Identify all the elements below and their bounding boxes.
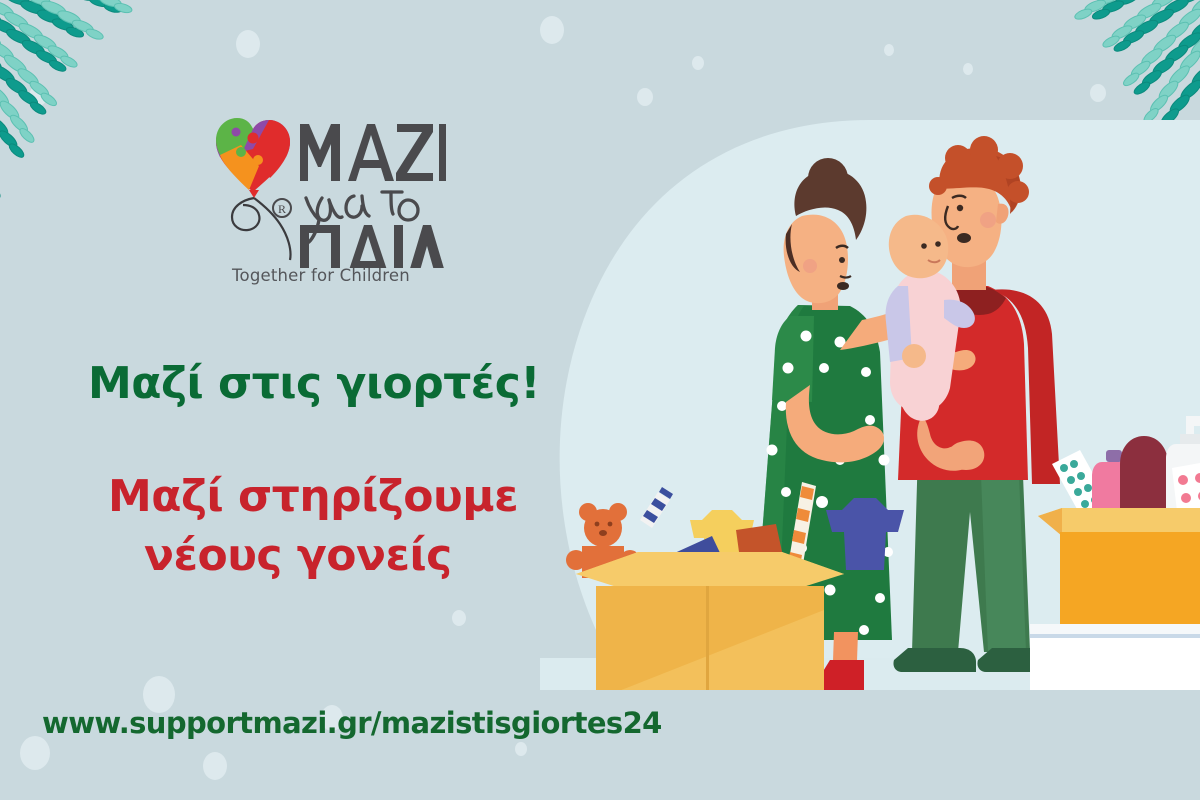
logo-tagline: Together for Children [196,266,446,285]
father-hair-curl-2 [945,145,971,171]
father-hair-curl-1 [929,177,947,195]
headline-red-line2: νέους γονείς [108,527,518,586]
headline-green: Μαζί στις γιορτές! [88,358,540,409]
registered-trademark-icon: R [273,199,291,217]
father-hair-curl-3 [970,136,998,164]
baby-eye-left [921,243,927,249]
campaign-url[interactable]: www.supportmazi.gr/mazistisgiortes24 [42,706,662,740]
balloon-string-icon [232,198,259,230]
holiday-campaign-poster: R Together for Children Μαζί στις γιορτέ… [0,0,1200,800]
organization-logo: R Together for Children [196,108,446,298]
father-cheek [980,212,996,228]
father-eye [957,205,963,211]
headline-red-line1: Μαζί στηρίζουμε [108,471,518,522]
headline-red: Μαζί στηρίζουμε νέους γονείς [108,468,518,585]
snow-dot [203,752,227,780]
snow-dot [515,742,527,756]
pedestal-top [1030,624,1200,634]
mother-cheek [803,259,817,273]
mother-eye [839,257,845,263]
dark-red-bottle-icon [1120,436,1168,516]
snow-dot [452,610,466,626]
father-hair-curl-5 [1007,181,1029,203]
father-hair-curl-4 [997,153,1023,179]
father-pants-shade [980,450,1026,652]
snow-dot [20,736,50,770]
baby-hand [902,344,926,368]
logo-mark: R [196,108,446,268]
father-shoe-left [893,648,976,672]
care-box-front [1060,532,1200,624]
snow-dot [637,88,653,106]
snow-dot [540,16,564,44]
svg-text:R: R [278,202,286,216]
care-box-flaps [1038,508,1200,532]
toy-box-seam [706,586,709,690]
mother-mouth [837,282,849,290]
snow-dot [692,56,704,70]
snow-dot [884,44,894,56]
pedestal-line [1030,634,1200,638]
father-mouth [957,233,971,243]
logo-wordmark-line2 [300,225,446,268]
logo-wordmark-line1 [300,124,446,181]
family-donation-illustration [540,120,1200,690]
baby-eye-right [935,241,941,247]
